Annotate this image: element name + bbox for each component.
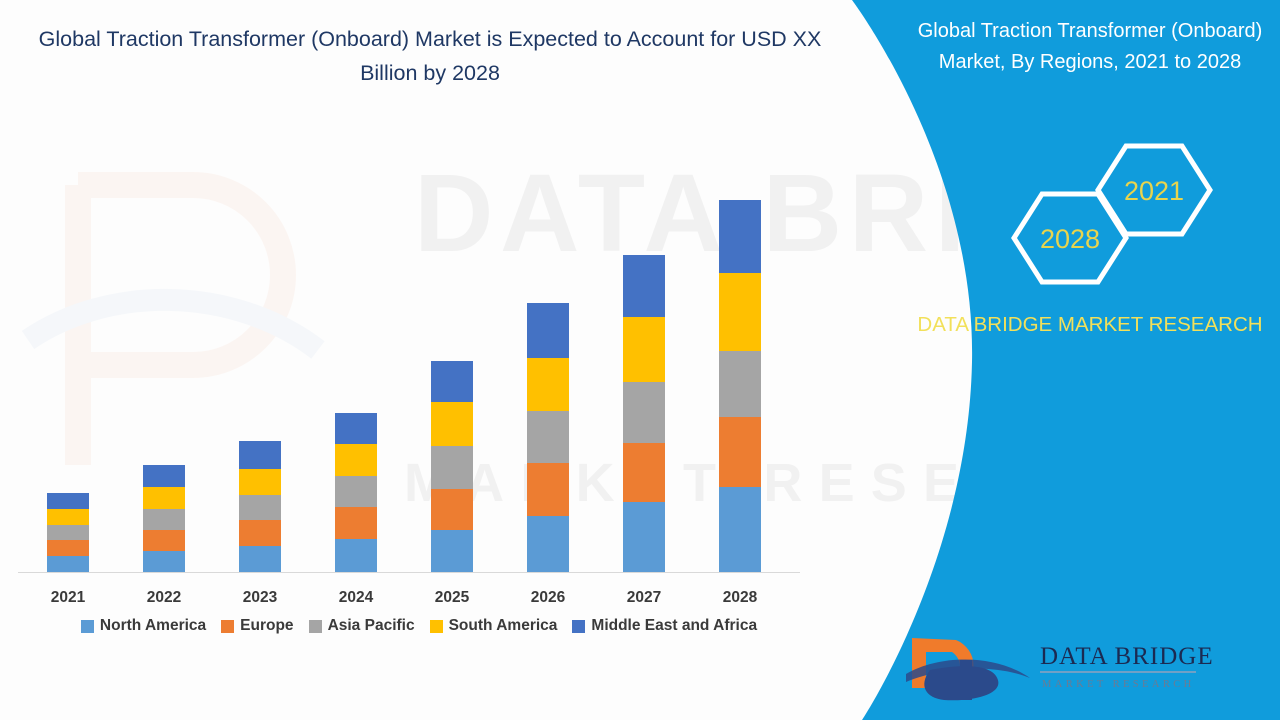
x-axis-label-2022: 2022 bbox=[116, 589, 212, 607]
data-bridge-logo: DATA BRIDGE MARKET RESEARCH bbox=[900, 630, 1220, 702]
x-axis-line bbox=[18, 572, 800, 573]
bar-segment-middle-east-and-africa[interactable] bbox=[335, 413, 377, 444]
legend-label: South America bbox=[449, 617, 558, 635]
bar-2025[interactable] bbox=[431, 361, 473, 572]
bar-segment-asia-pacific[interactable] bbox=[623, 382, 665, 443]
legend-item-middle-east-and-africa[interactable]: Middle East and Africa bbox=[572, 617, 757, 635]
legend-label: North America bbox=[100, 617, 206, 635]
legend-swatch-icon bbox=[221, 620, 234, 633]
logo-mark-icon bbox=[906, 638, 1030, 700]
bar-2028[interactable] bbox=[719, 200, 761, 572]
bar-segment-asia-pacific[interactable] bbox=[719, 351, 761, 417]
bar-segment-north-america[interactable] bbox=[143, 551, 185, 572]
bar-2023[interactable] bbox=[239, 441, 281, 572]
legend-item-asia-pacific[interactable]: Asia Pacific bbox=[309, 617, 415, 635]
bar-segment-middle-east-and-africa[interactable] bbox=[527, 303, 569, 358]
x-axis-label-2027: 2027 bbox=[596, 589, 692, 607]
bar-segment-south-america[interactable] bbox=[239, 469, 281, 495]
svg-text:DATA BRIDGE: DATA BRIDGE bbox=[1040, 643, 1214, 670]
x-axis-label-2021: 2021 bbox=[20, 589, 116, 607]
bar-segment-north-america[interactable] bbox=[719, 487, 761, 572]
bar-segment-asia-pacific[interactable] bbox=[47, 525, 89, 540]
bar-2021[interactable] bbox=[47, 493, 89, 572]
bar-segment-europe[interactable] bbox=[623, 443, 665, 502]
bar-segment-north-america[interactable] bbox=[527, 516, 569, 572]
bar-2026[interactable] bbox=[527, 303, 569, 572]
brand-name: DATA BRIDGE MARKET RESEARCH bbox=[910, 310, 1270, 340]
legend-item-europe[interactable]: Europe bbox=[221, 617, 293, 635]
legend-swatch-icon bbox=[81, 620, 94, 633]
bar-segment-south-america[interactable] bbox=[431, 402, 473, 446]
bar-segment-asia-pacific[interactable] bbox=[431, 446, 473, 489]
bar-2027[interactable] bbox=[623, 255, 665, 572]
bar-2022[interactable] bbox=[143, 465, 185, 572]
x-axis-label-2023: 2023 bbox=[212, 589, 308, 607]
bar-segment-south-america[interactable] bbox=[47, 509, 89, 525]
bars-container bbox=[0, 0, 820, 572]
bar-segment-europe[interactable] bbox=[47, 540, 89, 556]
bar-segment-south-america[interactable] bbox=[335, 444, 377, 476]
bar-segment-europe[interactable] bbox=[143, 530, 185, 551]
bar-segment-south-america[interactable] bbox=[143, 487, 185, 509]
bar-segment-middle-east-and-africa[interactable] bbox=[431, 361, 473, 402]
hexagon-group: 2028 2021 bbox=[994, 140, 1224, 290]
bar-segment-north-america[interactable] bbox=[47, 556, 89, 572]
x-axis-label-2025: 2025 bbox=[404, 589, 500, 607]
bar-segment-north-america[interactable] bbox=[239, 546, 281, 572]
bar-segment-middle-east-and-africa[interactable] bbox=[719, 200, 761, 273]
bar-segment-asia-pacific[interactable] bbox=[335, 476, 377, 507]
infographic-canvas: DATA BRIDGE MARKET RESEARCH Global Tract… bbox=[0, 0, 1280, 720]
legend-swatch-icon bbox=[572, 620, 585, 633]
bar-segment-south-america[interactable] bbox=[719, 273, 761, 351]
x-axis-labels: 20212022202320242025202620272028 bbox=[0, 589, 820, 613]
bar-segment-europe[interactable] bbox=[527, 463, 569, 516]
bar-segment-middle-east-and-africa[interactable] bbox=[143, 465, 185, 487]
bar-segment-asia-pacific[interactable] bbox=[527, 411, 569, 463]
bar-segment-north-america[interactable] bbox=[623, 502, 665, 572]
plot-area bbox=[0, 0, 820, 572]
svg-text:2021: 2021 bbox=[1124, 176, 1184, 206]
legend-swatch-icon bbox=[309, 620, 322, 633]
x-axis-label-2024: 2024 bbox=[308, 589, 404, 607]
right-panel-title: Global Traction Transformer (Onboard) Ma… bbox=[910, 16, 1270, 78]
bar-segment-europe[interactable] bbox=[335, 507, 377, 539]
legend-label: Middle East and Africa bbox=[591, 617, 757, 635]
svg-text:2028: 2028 bbox=[1040, 224, 1100, 254]
bar-segment-middle-east-and-africa[interactable] bbox=[47, 493, 89, 509]
legend-item-north-america[interactable]: North America bbox=[81, 617, 206, 635]
legend-label: Asia Pacific bbox=[328, 617, 415, 635]
bar-segment-north-america[interactable] bbox=[335, 539, 377, 572]
bar-segment-south-america[interactable] bbox=[527, 358, 569, 411]
bar-segment-north-america[interactable] bbox=[431, 530, 473, 572]
bar-segment-europe[interactable] bbox=[239, 520, 281, 546]
bar-segment-europe[interactable] bbox=[431, 489, 473, 530]
bar-2024[interactable] bbox=[335, 413, 377, 572]
x-axis-label-2026: 2026 bbox=[500, 589, 596, 607]
legend-label: Europe bbox=[240, 617, 293, 635]
bar-segment-asia-pacific[interactable] bbox=[239, 495, 281, 520]
svg-text:MARKET RESEARCH: MARKET RESEARCH bbox=[1042, 679, 1195, 690]
chart-legend: North AmericaEuropeAsia PacificSouth Ame… bbox=[0, 617, 838, 635]
chart-panel: Global Traction Transformer (Onboard) Ma… bbox=[0, 0, 860, 720]
x-axis-label-2028: 2028 bbox=[692, 589, 788, 607]
legend-item-south-america[interactable]: South America bbox=[430, 617, 558, 635]
bar-segment-middle-east-and-africa[interactable] bbox=[239, 441, 281, 469]
bar-segment-europe[interactable] bbox=[719, 417, 761, 487]
bar-segment-asia-pacific[interactable] bbox=[143, 509, 185, 530]
bar-segment-south-america[interactable] bbox=[623, 317, 665, 382]
legend-swatch-icon bbox=[430, 620, 443, 633]
bar-segment-middle-east-and-africa[interactable] bbox=[623, 255, 665, 317]
right-panel: Global Traction Transformer (Onboard) Ma… bbox=[900, 0, 1280, 720]
